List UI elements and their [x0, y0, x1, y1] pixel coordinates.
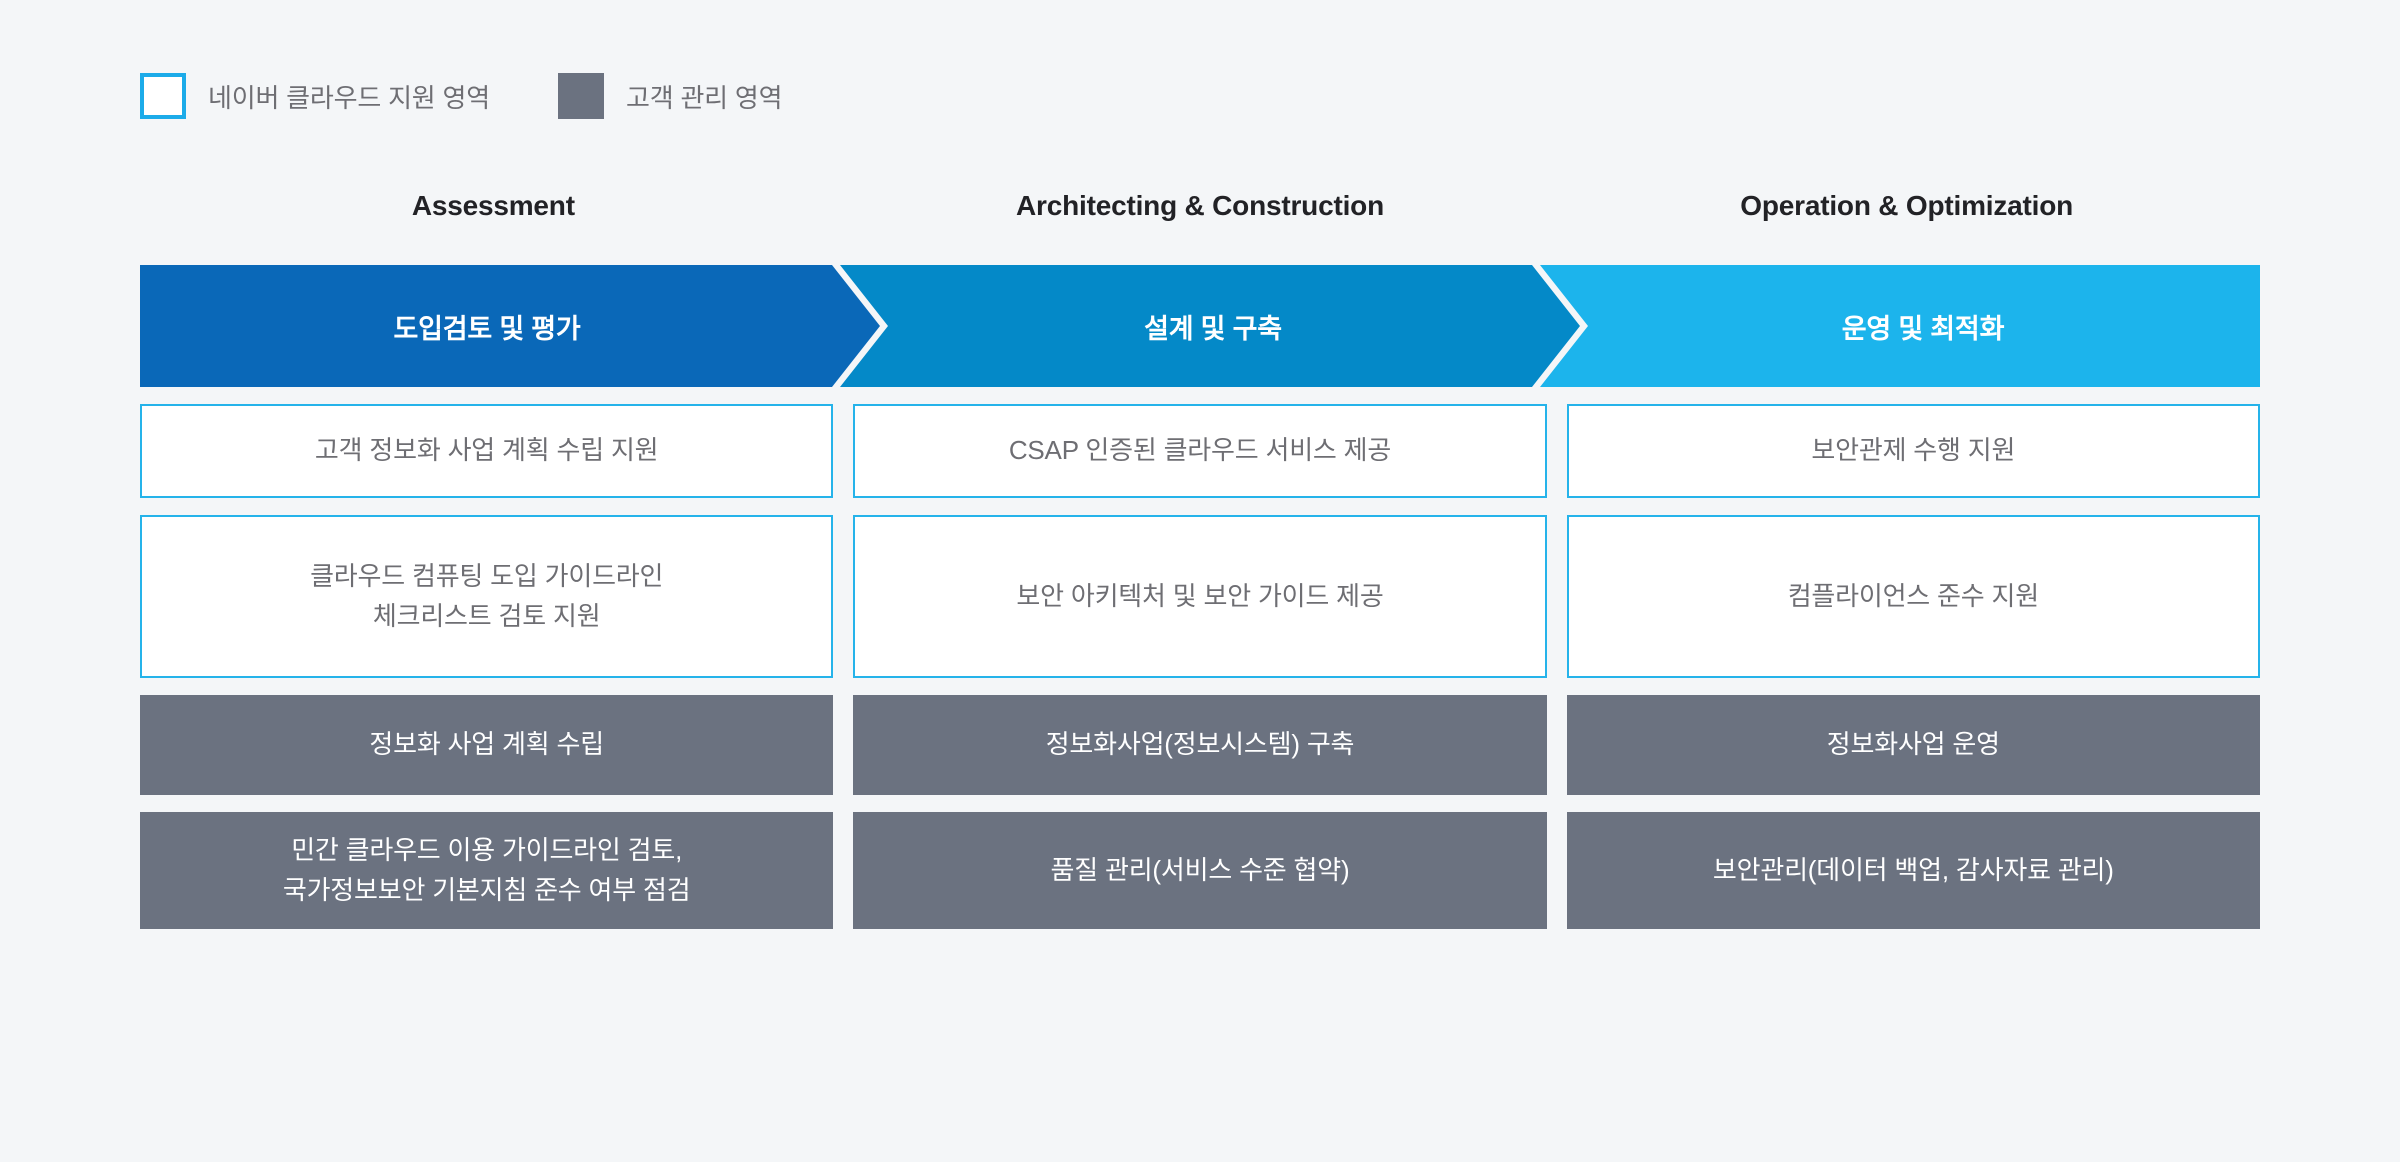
legend-swatch-solid-gray-square-icon: [558, 73, 604, 119]
activity-cell-r1c1: 고객 정보화 사업 계획 수립 지원: [140, 404, 833, 498]
activity-cell-text: 정보화 사업 계획 수립: [369, 725, 604, 765]
activity-cell-text: 보안 아키텍처 및 보안 가이드 제공: [1016, 577, 1383, 617]
activity-cell-text: 정보화사업 운영: [1827, 725, 2000, 765]
column-header-operation-optimization: Operation & Optimization: [1553, 190, 2260, 222]
activity-cell-r1c2: CSAP 인증된 클라우드 서비스 제공: [853, 404, 1546, 498]
column-headers: Assessment Architecting & Construction O…: [140, 190, 2260, 222]
activity-cell-r4c3: 보안관리(데이터 백업, 감사자료 관리): [1567, 812, 2260, 929]
stage-banner-row: 도입검토 및 평가 설계 및 구축 운영 및 최적화: [140, 265, 2260, 387]
legend: 네이버 클라우드 지원 영역 고객 관리 영역: [140, 73, 782, 119]
legend-item-naver-cloud: 네이버 클라우드 지원 영역: [140, 73, 490, 119]
activity-grid: 고객 정보화 사업 계획 수립 지원 CSAP 인증된 클라우드 서비스 제공 …: [140, 404, 2260, 929]
activity-cell-text: 보안관제 수행 지원: [1811, 431, 2015, 471]
activity-row-3: 정보화 사업 계획 수립 정보화사업(정보시스템) 구축 정보화사업 운영: [140, 695, 2260, 795]
activity-cell-text: CSAP 인증된 클라우드 서비스 제공: [1009, 431, 1391, 471]
stage-banner-label-assessment: 도입검토 및 평가: [393, 307, 580, 346]
stage-banner-operation-optimization: 운영 및 최적화: [1540, 265, 2260, 387]
activity-cell-r3c1: 정보화 사업 계획 수립: [140, 695, 833, 795]
activity-cell-r2c1: 클라우드 컴퓨팅 도입 가이드라인체크리스트 검토 지원: [140, 515, 833, 678]
activity-row-4: 민간 클라우드 이용 가이드라인 검토,국가정보보안 기본지침 준수 여부 점검…: [140, 812, 2260, 929]
legend-label-customer-management: 고객 관리 영역: [626, 78, 782, 115]
activity-cell-r4c2: 품질 관리(서비스 수준 협약): [853, 812, 1546, 929]
activity-cell-text: 고객 정보화 사업 계획 수립 지원: [315, 431, 658, 471]
column-header-assessment: Assessment: [140, 190, 847, 222]
legend-item-customer-management: 고객 관리 영역: [558, 73, 782, 119]
activity-cell-text: 정보화사업(정보시스템) 구축: [1046, 725, 1355, 765]
activity-cell-r2c3: 컴플라이언스 준수 지원: [1567, 515, 2260, 678]
activity-cell-r3c2: 정보화사업(정보시스템) 구축: [853, 695, 1546, 795]
stage-banner-label-operation-optimization: 운영 및 최적화: [1842, 307, 2004, 346]
activity-cell-text: 품질 관리(서비스 수준 협약): [1051, 851, 1350, 891]
activity-cell-text: 클라우드 컴퓨팅 도입 가이드라인체크리스트 검토 지원: [310, 557, 663, 636]
activity-cell-r2c2: 보안 아키텍처 및 보안 가이드 제공: [853, 515, 1546, 678]
activity-cell-r3c3: 정보화사업 운영: [1567, 695, 2260, 795]
activity-cell-r1c3: 보안관제 수행 지원: [1567, 404, 2260, 498]
activity-row-1: 고객 정보화 사업 계획 수립 지원 CSAP 인증된 클라우드 서비스 제공 …: [140, 404, 2260, 498]
activity-cell-r4c1: 민간 클라우드 이용 가이드라인 검토,국가정보보안 기본지침 준수 여부 점검: [140, 812, 833, 929]
activity-cell-text: 컴플라이언스 준수 지원: [1788, 577, 2039, 617]
activity-cell-text: 민간 클라우드 이용 가이드라인 검토,국가정보보안 기본지침 준수 여부 점검: [283, 831, 691, 910]
activity-cell-text: 보안관리(데이터 백업, 감사자료 관리): [1713, 851, 2114, 891]
column-header-architecting-construction: Architecting & Construction: [847, 190, 1554, 222]
diagram-canvas: 네이버 클라우드 지원 영역 고객 관리 영역 Assessment Archi…: [0, 0, 2400, 1162]
stage-banner-label-architecting-construction: 설계 및 구축: [1144, 307, 1282, 346]
stage-banner-architecting-construction: 설계 및 구축: [840, 265, 1580, 387]
stage-banner-assessment: 도입검토 및 평가: [140, 265, 880, 387]
legend-swatch-outline-blue-square-icon: [140, 73, 186, 119]
legend-label-naver-cloud: 네이버 클라우드 지원 영역: [208, 78, 490, 115]
activity-row-2: 클라우드 컴퓨팅 도입 가이드라인체크리스트 검토 지원 보안 아키텍처 및 보…: [140, 515, 2260, 678]
